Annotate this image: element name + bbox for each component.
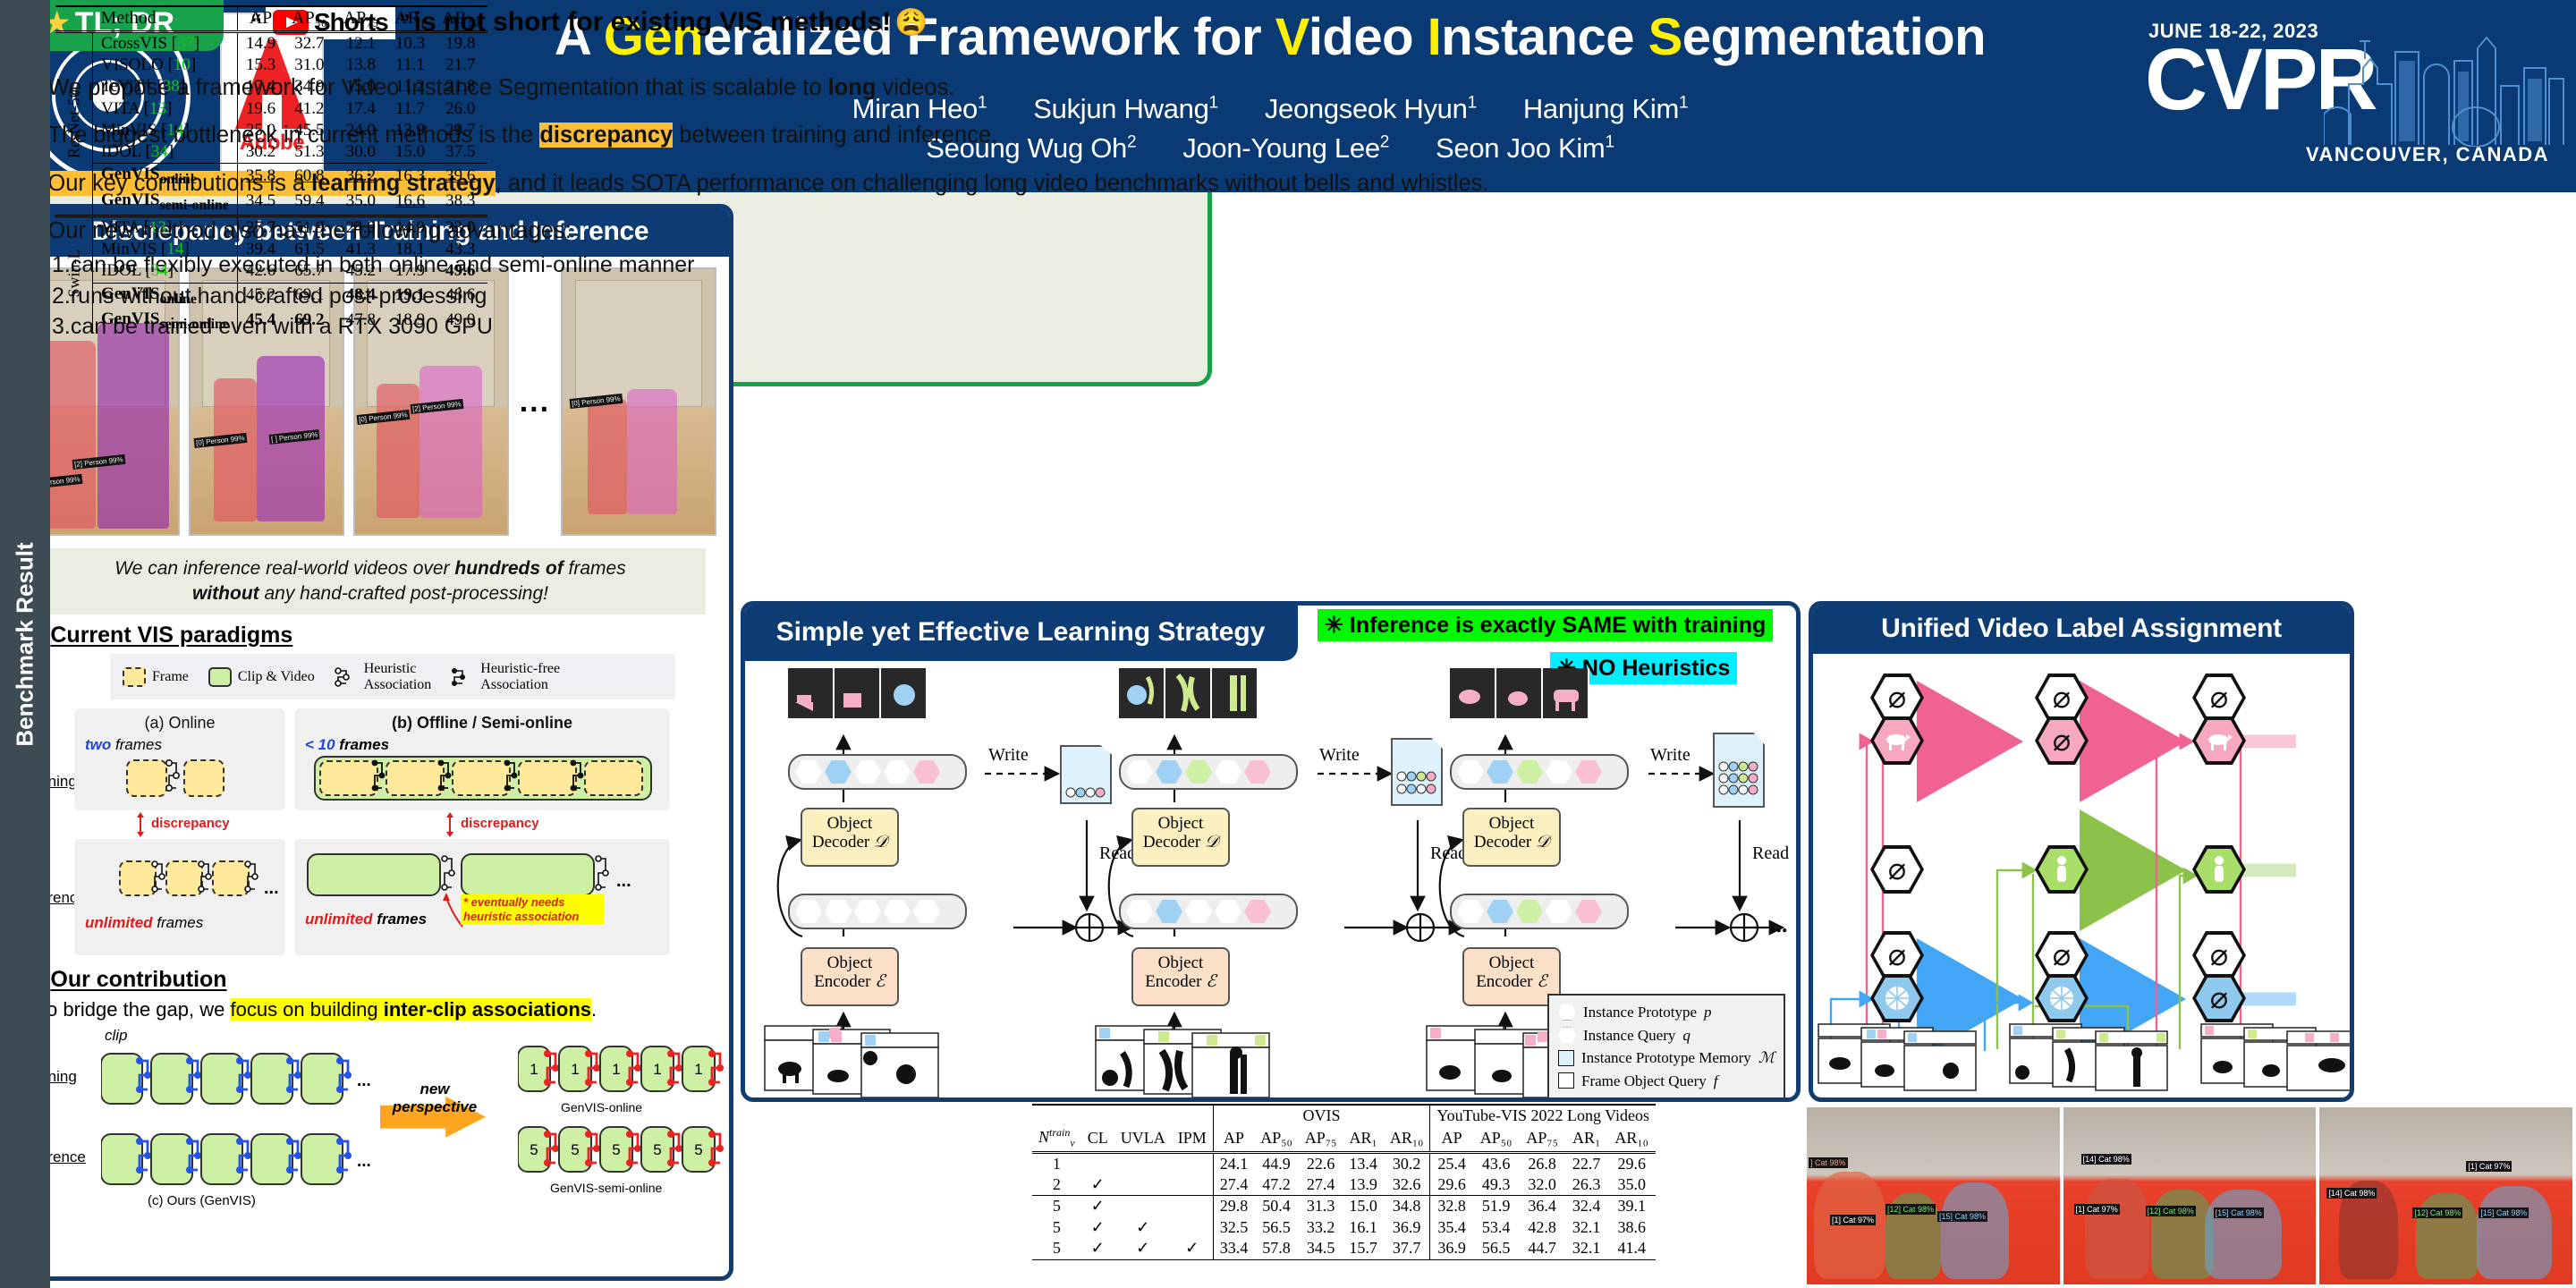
benchmark-value: 48.6 xyxy=(434,283,487,309)
ablation-ipm xyxy=(1172,1217,1214,1238)
genvis-contribution-diagram: Training Inference clip ... ... (c) Ours… xyxy=(12,1025,729,1213)
benchmark-value: 18.9 xyxy=(386,309,434,334)
table-row: ResNet-50CrossVIS [37]14.932.712.110.319… xyxy=(55,31,487,55)
uvla-input-strips xyxy=(1817,1019,2354,1102)
object-encoder-1: Object Encoder ℰ xyxy=(801,947,899,1006)
table-row: MinVIS [14]39.461.541.318.143.3 xyxy=(55,239,487,260)
ablation-cl xyxy=(1081,1152,1114,1174)
svg-text:...: ... xyxy=(729,1062,733,1080)
svg-text:5: 5 xyxy=(530,1141,538,1158)
benchmark-value: 14.9 xyxy=(386,216,434,239)
ablation-ipm xyxy=(1172,1196,1214,1217)
ablation-ytvis-value: 56.5 xyxy=(1473,1238,1520,1259)
ablation-metric: AP xyxy=(1213,1126,1254,1152)
ablation-ovis-value: 22.6 xyxy=(1299,1152,1343,1174)
benchmark-value: 45.2 xyxy=(237,283,284,309)
uvla-panel-title: Unified Video Label Assignment xyxy=(1813,606,2350,654)
ablation-col-nv: Ntrainv xyxy=(1032,1126,1081,1152)
benchmark-value: 16.6 xyxy=(386,190,434,216)
benchmark-value: 36.2 xyxy=(335,164,387,190)
ablation-cl: ✓ xyxy=(1081,1217,1114,1238)
benchmark-value: 17.9 xyxy=(386,260,434,283)
masked-frames-group xyxy=(788,668,928,718)
benchmark-value: 15.0 xyxy=(386,141,434,164)
heuristic-note: * eventually needs heuristic association xyxy=(461,894,604,926)
hex-solid-icon xyxy=(1558,1004,1576,1020)
legend-instance-prototype: Instance Prototypep xyxy=(1558,1001,1775,1024)
write-label-3: Write xyxy=(1650,745,1690,766)
benchmark-value: 49.6 xyxy=(434,260,487,283)
read-label-2: Read xyxy=(1430,843,1467,864)
benchmark-value: 45.5 xyxy=(284,120,335,141)
ablation-ytvis-value: 26.8 xyxy=(1519,1152,1565,1174)
benchmark-value: 26.0 xyxy=(434,98,487,120)
benchmark-value: 16.3 xyxy=(386,164,434,190)
benchmark-value: 19.1 xyxy=(386,283,434,309)
benchmark-col-AR1: AR₁ xyxy=(386,6,434,31)
benchmark-value: 43.3 xyxy=(434,239,487,260)
ablation-nv: 5 xyxy=(1032,1217,1081,1238)
ablation-ovis-value: 15.7 xyxy=(1343,1238,1384,1259)
svg-text:1: 1 xyxy=(694,1061,702,1078)
title-fragment: V xyxy=(1275,8,1309,66)
benchmark-value: 21.7 xyxy=(434,55,487,76)
instance-prototype-row xyxy=(788,754,967,790)
ablation-ovis-value: 15.0 xyxy=(1343,1196,1384,1217)
ablation-ipm xyxy=(1172,1174,1214,1196)
ablation-nv: 1 xyxy=(1032,1152,1081,1174)
contribution-text: To bridge the gap, we focus on building … xyxy=(37,998,729,1021)
benchmark-value: 47.8 xyxy=(335,309,387,334)
ablation-ytvis-value: 26.3 xyxy=(1565,1174,1607,1196)
ablation-ovis-value: 24.1 xyxy=(1213,1152,1254,1174)
square-white-icon xyxy=(1558,1072,1574,1089)
benchmark-value: 41.2 xyxy=(284,98,335,120)
ablation-ytvis-value: 32.4 xyxy=(1565,1196,1607,1217)
benchmark-group-ResNet-50: ResNet-50 xyxy=(55,31,93,216)
benchmark-col-Method: Method xyxy=(93,6,238,31)
memory-card-3 xyxy=(1713,733,1765,808)
ablation-nv: 2 xyxy=(1032,1174,1081,1196)
paradigm-online: (a) Online two frames discrepancy xyxy=(74,708,285,955)
benchmark-value: 13.8 xyxy=(335,55,387,76)
svg-text:1: 1 xyxy=(653,1061,661,1078)
table-row: GenVISsemi-online45.469.247.818.949.0 xyxy=(55,309,487,334)
benchmark-method: VITA [13] xyxy=(93,98,238,120)
ablation-cl: ✓ xyxy=(1081,1238,1114,1259)
benchmark-value: 31.0 xyxy=(284,55,335,76)
ablation-table-wrapper: OVISYouTube-VIS 2022 Long VideosNtrainvC… xyxy=(1030,1102,1800,1286)
legend-item-heuristic: HeuristicAssociation xyxy=(335,661,432,692)
paradigm-offline: (b) Offline / Semi-online < 10 frames xyxy=(294,708,670,955)
learning-strategy-panel: Simple yet Effective Learning Strategy ✳… xyxy=(741,601,1801,1102)
benchmark-value: 37.5 xyxy=(434,141,487,164)
benchmark-value: 19.6 xyxy=(237,98,284,120)
cat-qualitative-results: ] Cat 98% [12] Cat 98% [1] Cat 97% [15] … xyxy=(1807,1107,2572,1284)
hex-dashed-icon xyxy=(1558,1028,1576,1043)
benchmark-value: 65.7 xyxy=(284,260,335,283)
ablation-ovis-value: 47.2 xyxy=(1254,1174,1299,1196)
ablation-ytvis-value: 32.0 xyxy=(1519,1174,1565,1196)
ablation-ovis-value: 50.4 xyxy=(1254,1196,1299,1217)
benchmark-method: IDOL [34] xyxy=(93,260,238,283)
benchmark-value: 35.8 xyxy=(237,164,284,190)
benchmark-value: 15.0 xyxy=(335,76,387,97)
ablation-ovis-value: 36.9 xyxy=(1384,1217,1430,1238)
ablation-cl: ✓ xyxy=(1081,1174,1114,1196)
ablation-ytvis-value: 38.6 xyxy=(1607,1217,1656,1238)
ablation-ovis-value: 33.2 xyxy=(1299,1217,1343,1238)
ablation-ytvis-value: 42.8 xyxy=(1519,1217,1565,1238)
benchmark-value: 35.0 xyxy=(335,190,387,216)
benchmark-value: 34.5 xyxy=(237,190,284,216)
svg-text:...: ... xyxy=(357,1072,371,1090)
weary-face-emoji: 😩 xyxy=(894,7,928,38)
masked-frames-group xyxy=(1450,668,1589,718)
ablation-uvla xyxy=(1114,1174,1172,1196)
ablation-ovis-value: 34.5 xyxy=(1299,1238,1343,1259)
uvla-panel: Unified Video Label Assignment xyxy=(1809,601,2354,1102)
ablation-col-UVLA: UVLA xyxy=(1114,1126,1172,1152)
ablation-uvla xyxy=(1114,1152,1172,1174)
clip-chain: ... xyxy=(101,1129,378,1193)
ablation-col-CL: CL xyxy=(1081,1126,1114,1152)
ablation-ovis-value: 30.2 xyxy=(1384,1152,1430,1174)
instance-query-row xyxy=(1119,894,1298,929)
benchmark-value: 39.6 xyxy=(434,164,487,190)
benchmark-method: VISOLO [10] xyxy=(93,55,238,76)
hex-prototype xyxy=(884,760,911,784)
title-fragment: ideo xyxy=(1309,8,1428,66)
ablation-ytvis-value: 44.7 xyxy=(1519,1238,1565,1259)
benchmark-method: IDOL [34] xyxy=(93,141,238,164)
benchmark-value: 60.8 xyxy=(284,164,335,190)
legend-instance-query: Instance Queryq xyxy=(1558,1024,1775,1047)
svg-text:1: 1 xyxy=(571,1061,579,1078)
benchmark-value: 24.9 xyxy=(335,216,387,239)
instance-query-row xyxy=(1450,894,1629,929)
hex-prototype xyxy=(825,760,852,784)
benchmark-method: TeViT† [38] xyxy=(93,76,238,97)
genvis-online-caption: GenVIS-online xyxy=(561,1100,642,1114)
svg-text:1: 1 xyxy=(612,1061,620,1078)
ablation-ovis-value: 27.4 xyxy=(1213,1174,1254,1196)
discrepancy-panel: Discrepancy between Training and Inferen… xyxy=(7,204,733,1281)
benchmark-method: VITA [13] xyxy=(93,216,238,239)
benchmark-value: 13.9 xyxy=(386,120,434,141)
ablation-group-header: OVISYouTube-VIS 2022 Long Videos xyxy=(1032,1105,1656,1126)
benchmark-value: 11.1 xyxy=(386,55,434,76)
ablation-uvla xyxy=(1114,1196,1172,1217)
instance-prototype-row xyxy=(1450,754,1629,790)
legend-frame-object-query: Frame Object Queryf xyxy=(1558,1070,1775,1093)
memory-card-1 xyxy=(1060,745,1112,804)
benchmark-value: 19.8 xyxy=(434,31,487,55)
benchmark-method: CrossVIS [37] xyxy=(93,31,238,55)
cat-result-frame: [14] Cat 98% [1] Cat 97% [12] Cat 98% [1… xyxy=(2063,1107,2317,1284)
benchmark-value: 11.7 xyxy=(386,98,434,120)
benchmark-value: 39.4 xyxy=(237,239,284,260)
ablation-uvla: ✓ xyxy=(1114,1238,1172,1259)
genvis-semi-caption: GenVIS-semi-online xyxy=(550,1181,662,1195)
heuristic-free-association-icon xyxy=(451,665,474,689)
ablation-ytvis-value: 32.8 xyxy=(1430,1196,1473,1217)
table-row: IDOL [34]30.251.330.015.037.5 xyxy=(55,141,487,164)
svg-text:5: 5 xyxy=(571,1141,579,1158)
ablation-ovis-value: 44.9 xyxy=(1254,1152,1299,1174)
benchmark-value: 14.9 xyxy=(237,31,284,55)
benchmark-value: 45.4 xyxy=(237,309,284,334)
ablation-ovis-value: 32.5 xyxy=(1213,1217,1254,1238)
table-row: VISOLO [10]15.331.013.811.121.7 xyxy=(55,55,487,76)
benchmark-group-Swin-L: Swin-L xyxy=(55,216,93,334)
ablation-ytvis-value: 41.4 xyxy=(1607,1238,1656,1259)
benchmark-method: GenVISsemi-online xyxy=(93,309,238,334)
legend-prototype-memory: Instance Prototype Memoryℳ xyxy=(1558,1046,1775,1070)
ablation-metric: AR₁ xyxy=(1565,1126,1607,1152)
benchmark-value: 27.7 xyxy=(237,216,284,239)
clip-label: clip xyxy=(105,1027,128,1045)
object-decoder-1: Object Decoder 𝒟 xyxy=(801,808,899,867)
hex-prototype xyxy=(854,760,881,784)
ablation-ovis-value: 57.8 xyxy=(1254,1238,1299,1259)
svg-text:5: 5 xyxy=(612,1141,620,1158)
ablation-uvla: ✓ xyxy=(1114,1217,1172,1238)
learning-strategy-title: Simple yet Effective Learning Strategy xyxy=(743,604,1298,661)
ablation-ytvis-value: 22.7 xyxy=(1565,1152,1607,1174)
uvla-frames-2 xyxy=(2008,1019,2178,1102)
ablation-ovis-value: 37.7 xyxy=(1384,1238,1430,1259)
ablation-metric: AP₇₅ xyxy=(1299,1126,1343,1152)
ablation-ovis-value: 56.5 xyxy=(1254,1217,1299,1238)
table-row: GenVISonline35.860.836.216.339.6 xyxy=(55,164,487,190)
heuristic-association-icon xyxy=(335,665,358,689)
hex-prototype xyxy=(913,760,940,784)
legend-item-clip: Clip & Video xyxy=(208,667,315,687)
ablation-ytvis-value: 53.4 xyxy=(1473,1217,1520,1238)
ablation-nv: 5 xyxy=(1032,1196,1081,1217)
table-row: MinVIS [14]25.045.524.013.929.7 xyxy=(55,120,487,141)
benchmark-col-AR10: AR₁₀ xyxy=(434,6,487,31)
title-fragment: I xyxy=(1428,8,1442,66)
benchmark-value: 34.9 xyxy=(284,76,335,97)
learning-strategy-legend: Instance Prototypep Instance Queryq Inst… xyxy=(1547,994,1785,1099)
benchmark-value: 69.2 xyxy=(284,309,335,334)
benchmark-header-row: MethodAPAP₅₀AP₇₅AR₁AR₁₀ xyxy=(55,6,487,31)
inference-same-flag: ✳ Inference is exactly SAME with trainin… xyxy=(1318,609,1773,641)
title-fragment: nstance xyxy=(1441,8,1648,66)
write-label-1: Write xyxy=(988,745,1029,766)
ablation-ovis-value: 33.4 xyxy=(1213,1238,1254,1259)
benchmark-value: 10.3 xyxy=(386,31,434,55)
input-frames-2 xyxy=(1094,1022,1282,1102)
ablation-metric: AR₁₀ xyxy=(1607,1126,1656,1152)
cat-result-frame: ] Cat 98% [12] Cat 98% [1] Cat 97% [15] … xyxy=(1807,1107,2060,1284)
ablation-ytvis-value: 36.9 xyxy=(1430,1238,1473,1259)
ablation-ytvis-value: 32.1 xyxy=(1565,1217,1607,1238)
frames-ellipsis: ... xyxy=(518,385,552,419)
ablation-ytvis-value: 39.1 xyxy=(1607,1196,1656,1217)
uvla-frames-1 xyxy=(1817,1019,1987,1102)
table-row: GenVISonline45.269.148.419.148.6 xyxy=(55,283,487,309)
benchmark-value: 69.1 xyxy=(284,283,335,309)
ablation-table: OVISYouTube-VIS 2022 Long VideosNtrainvC… xyxy=(1032,1104,1656,1262)
table-row: Swin-LVITA [13]27.751.924.914.933.0 xyxy=(55,216,487,239)
ablation-metric-header: NtrainvCLUVLAIPMAPAP₅₀AP₇₅AR₁AR₁₀APAP₅₀A… xyxy=(1032,1126,1656,1152)
svg-text:5: 5 xyxy=(694,1141,702,1158)
svg-text:1: 1 xyxy=(530,1061,538,1078)
benchmark-value: 30.0 xyxy=(335,141,387,164)
benchmark-value: 38.3 xyxy=(434,190,487,216)
instance-prototype-row xyxy=(1119,754,1298,790)
svg-text:...: ... xyxy=(357,1152,371,1171)
table-row: 124.144.922.613.430.225.443.626.822.729.… xyxy=(1032,1152,1656,1174)
diagram-ellipsis: ... xyxy=(1770,911,1788,938)
current-paradigms-heading: ❖ Current VIS paradigms xyxy=(24,622,729,648)
ablation-cl: ✓ xyxy=(1081,1196,1114,1217)
benchmark-col-AP: AP xyxy=(237,6,284,31)
dance-caption: We can inference real-world videos over … xyxy=(35,548,706,614)
benchmark-value: 17.4 xyxy=(237,76,284,97)
svg-text:...: ... xyxy=(729,1142,733,1161)
title-fragment: egmentation xyxy=(1682,8,1986,66)
ablation-ytvis-value: 29.6 xyxy=(1430,1174,1473,1196)
benchmark-value: 15.3 xyxy=(237,55,284,76)
ablation-group-ovis: OVIS xyxy=(1213,1105,1430,1126)
legend-item-heuristic-free: Heuristic-freeAssociation xyxy=(451,661,560,692)
ablation-ytvis-value: 35.0 xyxy=(1607,1174,1656,1196)
frame-swatch-icon xyxy=(123,667,146,687)
table-row: VITA [13]19.641.217.411.726.0 xyxy=(55,98,487,120)
benchmark-col-AP75: AP₇₅ xyxy=(335,6,387,31)
ablation-ytvis-value: 35.4 xyxy=(1430,1217,1473,1238)
ablation-ytvis-value: 49.3 xyxy=(1473,1174,1520,1196)
benchmark-method: MinVIS [14] xyxy=(93,120,238,141)
instance-query-row xyxy=(788,894,967,929)
benchmark-method: GenVISonline xyxy=(93,283,238,309)
ablation-metric: AR₁₀ xyxy=(1384,1126,1430,1152)
ours-caption: (c) Ours (GenVIS) xyxy=(148,1193,256,1208)
benchmark-value: 48.4 xyxy=(335,283,387,309)
ablation-ovis-value: 27.4 xyxy=(1299,1174,1343,1196)
ablation-ovis-value: 31.3 xyxy=(1299,1196,1343,1217)
ablation-metric: AP₅₀ xyxy=(1473,1126,1520,1152)
ablation-ytvis-value: 32.1 xyxy=(1565,1238,1607,1259)
memory-card-2 xyxy=(1391,738,1443,806)
ablation-ovis-value: 16.1 xyxy=(1343,1217,1384,1238)
object-encoder-2: Object Encoder ℰ xyxy=(1131,947,1230,1006)
benchmark-method: MinVIS [14] xyxy=(93,239,238,260)
object-decoder-2: Object Decoder 𝒟 xyxy=(1131,808,1230,867)
benchmark-method: GenVISsemi-online xyxy=(93,190,238,216)
benchmark-value: 61.5 xyxy=(284,239,335,260)
ablation-metric: AP₅₀ xyxy=(1254,1126,1299,1152)
ablation-metric: AP xyxy=(1430,1126,1473,1152)
paradigm-legend: Frame Clip & Video HeuristicAssociation … xyxy=(110,654,675,699)
benchmark-value: 17.4 xyxy=(335,98,387,120)
benchmark-value: 18.1 xyxy=(386,239,434,260)
benchmark-value: 32.7 xyxy=(284,31,335,55)
benchmark-value: 45.2 xyxy=(335,260,387,283)
ablation-ytvis-value: 29.6 xyxy=(1607,1152,1656,1174)
uvla-frames-3 xyxy=(2199,1019,2354,1102)
object-decoder-3: Object Decoder 𝒟 xyxy=(1462,808,1561,867)
ablation-ovis-value: 29.8 xyxy=(1213,1196,1254,1217)
ablation-col-IPM: IPM xyxy=(1172,1126,1214,1152)
legend-item-frame: Frame xyxy=(123,667,189,687)
read-label-1: Read xyxy=(1099,843,1136,864)
benchmark-value: 29.7 xyxy=(434,120,487,141)
benchmark-col-AP50: AP₅₀ xyxy=(284,6,335,31)
cat-result-frame: [14] Cat 98% [1] Cat 97% [12] Cat 98% [1… xyxy=(2319,1107,2572,1284)
benchmark-value: 25.0 xyxy=(237,120,284,141)
clip-chain: ... xyxy=(101,1048,378,1113)
benchmark-value: 21.8 xyxy=(434,76,487,97)
uvla-diagram: ⌀⌀⌀⌀⌀⌀⌀⌀⌀ xyxy=(1813,656,2350,1102)
hex-prototype xyxy=(795,760,822,784)
benchmark-value: 59.4 xyxy=(284,190,335,216)
benchmark-value: 33.0 xyxy=(434,216,487,239)
benchmark-value: 12.1 xyxy=(335,31,387,55)
ablation-ytvis-value: 43.6 xyxy=(1473,1152,1520,1174)
ablation-ipm xyxy=(1172,1152,1214,1174)
write-label-2: Write xyxy=(1319,745,1360,766)
ablation-ovis-value: 13.4 xyxy=(1343,1152,1384,1174)
benchmark-side-label: Benchmark Result xyxy=(0,0,50,1288)
learning-strategy-diagram: Object Decoder 𝒟 Object Encoder ℰ xyxy=(745,668,1796,1102)
new-perspective-label: new perspective xyxy=(382,1080,487,1116)
benchmark-table: MethodAPAP₅₀AP₇₅AR₁AR₁₀ResNet-50CrossVIS… xyxy=(55,5,487,334)
table-row: 5✓✓✓33.457.834.515.737.736.956.544.732.1… xyxy=(1032,1238,1656,1259)
benchmark-value: 41.3 xyxy=(335,239,387,260)
benchmark-value: 30.2 xyxy=(237,141,284,164)
svg-text:5: 5 xyxy=(653,1141,661,1158)
ablation-ovis-value: 13.9 xyxy=(1343,1174,1384,1196)
table-row: 5✓✓32.556.533.216.136.935.453.442.832.13… xyxy=(1032,1217,1656,1238)
clip-swatch-icon xyxy=(208,667,232,687)
masked-frames-group xyxy=(1119,668,1258,718)
table-row: TeViT† [38]17.434.915.011.221.8 xyxy=(55,76,487,97)
table-row: 2✓27.447.227.413.932.629.649.332.026.335… xyxy=(1032,1174,1656,1196)
table-row: 5✓29.850.431.315.034.832.851.936.432.439… xyxy=(1032,1196,1656,1217)
clip-chain: 55555... xyxy=(518,1122,733,1181)
benchmark-value: 51.3 xyxy=(284,141,335,164)
ablation-ovis-value: 34.8 xyxy=(1384,1196,1430,1217)
ablation-ipm: ✓ xyxy=(1172,1238,1214,1259)
benchmark-value: 24.0 xyxy=(335,120,387,141)
benchmark-value: 11.2 xyxy=(386,76,434,97)
table-row: GenVISsemi-online34.559.435.016.638.3 xyxy=(55,190,487,216)
ablation-group-ytvis: YouTube-VIS 2022 Long Videos xyxy=(1430,1105,1656,1126)
benchmark-value: 51.9 xyxy=(284,216,335,239)
ablation-ytvis-value: 51.9 xyxy=(1473,1196,1520,1217)
ablation-ovis-value: 32.6 xyxy=(1384,1174,1430,1196)
clip-chain: 11111... xyxy=(518,1041,733,1100)
object-encoder-3: Object Encoder ℰ xyxy=(1462,947,1561,1006)
ablation-metric: AP₇₅ xyxy=(1519,1126,1565,1152)
ablation-metric: AR₁ xyxy=(1343,1126,1384,1152)
benchmark-value: 49.0 xyxy=(434,309,487,334)
title-fragment: S xyxy=(1648,8,1682,66)
ablation-ytvis-value: 25.4 xyxy=(1430,1152,1473,1174)
benchmark-value: 42.6 xyxy=(237,260,284,283)
input-frames-1 xyxy=(763,1022,951,1102)
table-row: IDOL [34]42.665.745.217.949.6 xyxy=(55,260,487,283)
benchmark-method: GenVISonline xyxy=(93,164,238,190)
ablation-ytvis-value: 36.4 xyxy=(1519,1196,1565,1217)
square-blue-icon xyxy=(1558,1050,1574,1066)
ablation-nv: 5 xyxy=(1032,1238,1081,1259)
